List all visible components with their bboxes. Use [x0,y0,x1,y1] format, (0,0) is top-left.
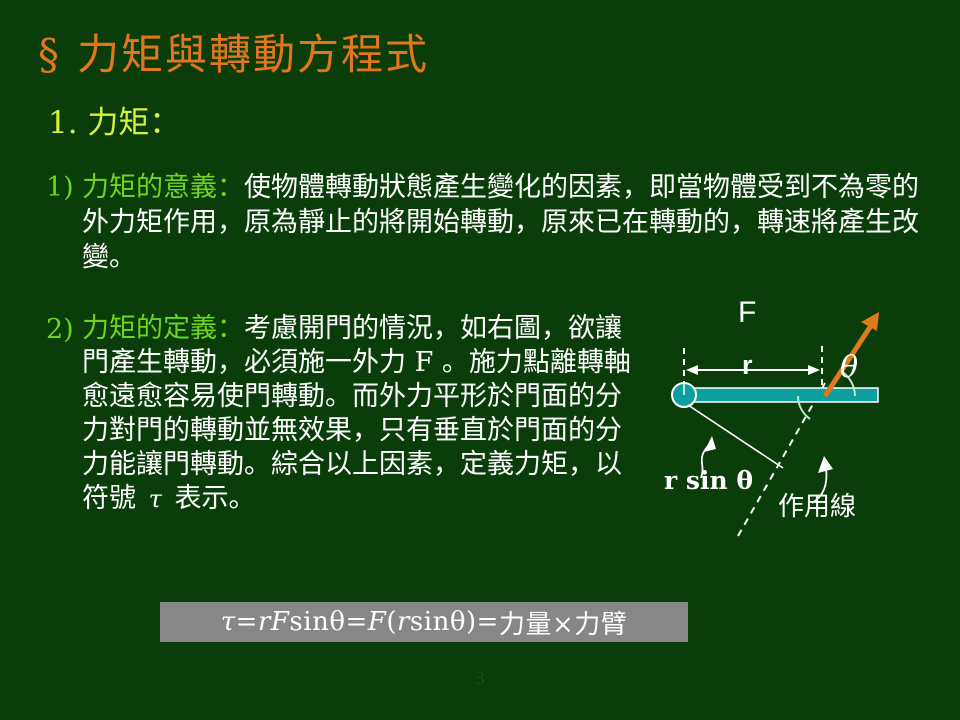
theta-label: θ [840,350,858,385]
paragraph-2: 2) 力矩的定義：考慮開門的情況，如右圖，欲讓門產生轉動，必須施一外力 F 。施… [46,312,646,516]
formula-chinese: 力量×力臂 [499,604,627,641]
paragraph-1-marker: 1) [46,170,74,205]
force-label: F [738,296,756,330]
formula-r2: r [397,607,410,637]
page-number: 3 [0,668,960,690]
formula-tau: τ [221,607,236,637]
paragraph-1-lead: 力矩的意義： [82,172,244,203]
formula-sin1: sin [289,607,329,637]
formula-theta1: θ [329,607,345,637]
formula-open-paren: ( [386,607,397,637]
paragraph-2-body-part2: 表示。 [166,483,256,514]
formula-eq3: = [477,607,499,637]
tau-symbol-inline: τ [145,485,166,513]
formula-theta2: θ [450,607,466,637]
section-symbol: § [38,30,61,79]
formula-rF: rF [258,607,289,637]
formula-F: F [368,607,387,637]
formula-sin2: sin [410,607,450,637]
door-torque-diagram: F r θ r sin θ 作用線 [650,288,960,573]
moment-arm-label: r sin θ [664,466,753,495]
paragraph-2-marker: 2) [46,312,74,347]
paragraph-2-lead: 力矩的定義： [82,313,244,344]
torque-formula-box: τ = rF sinθ = F(r sinθ) = 力量×力臂 [160,602,688,642]
paragraph-2-text: 力矩的定義：考慮開門的情況，如右圖，欲讓門產生轉動，必須施一外力 F 。施力點離… [82,312,646,516]
diagram-canvas [650,288,960,573]
paragraph-1-text: 力矩的意義：使物體轉動狀態產生變化的因素，即當物體受到不為零的外力矩作用，原為靜… [82,170,931,275]
radius-dimension-arrow [686,365,820,375]
formula-eq1: = [236,607,258,637]
paragraph-1: 1) 力矩的意義：使物體轉動狀態產生變化的因素，即當物體受到不為零的外力矩作用，… [46,170,931,275]
slide-title: §力矩與轉動方程式 [38,30,429,80]
line-of-action-label: 作用線 [778,486,856,523]
heading-level1: 1. 力矩： [48,104,180,142]
page-title: 力矩與轉動方程式 [77,30,429,79]
door-bar [684,388,878,402]
presentation-slide: §力矩與轉動方程式 1. 力矩： 1) 力矩的意義：使物體轉動狀態產生變化的因素… [0,0,960,720]
formula-close-paren: ) [466,607,477,637]
formula-eq2: = [345,607,367,637]
radius-label: r [742,350,753,381]
